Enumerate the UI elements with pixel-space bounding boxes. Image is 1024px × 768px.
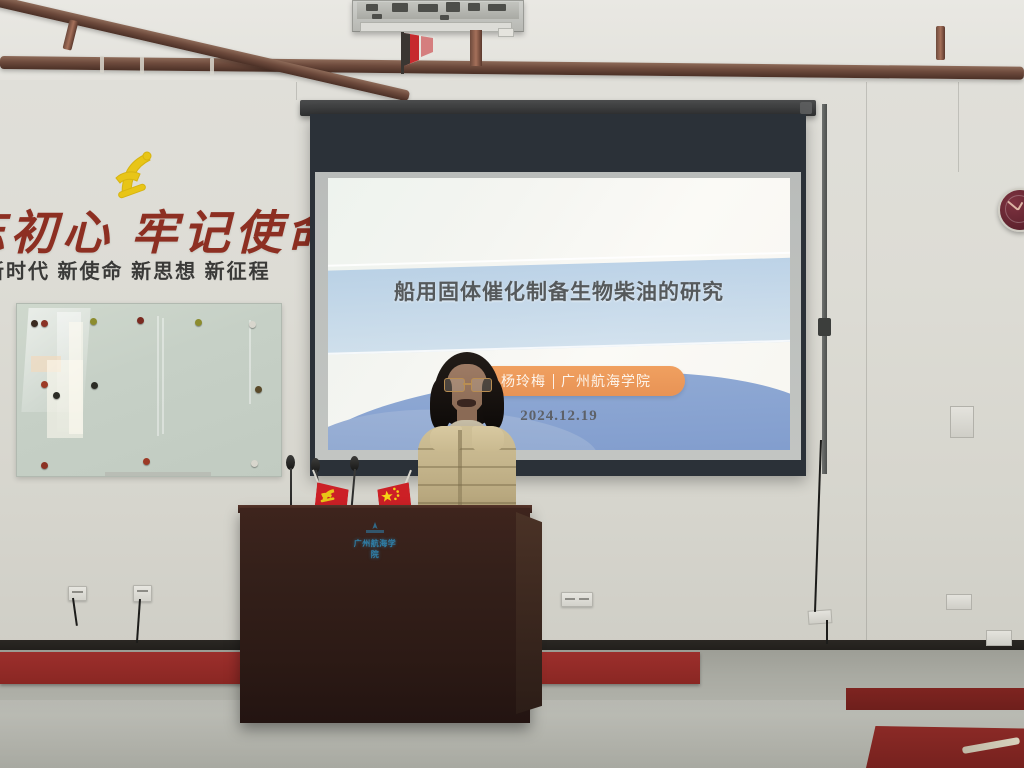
pill-divider xyxy=(553,374,554,389)
presenter-mouth xyxy=(457,399,476,407)
board-pin xyxy=(255,386,262,393)
pipe-clamp xyxy=(100,56,104,73)
board-paper-scrap xyxy=(69,322,83,434)
glasses-icon xyxy=(444,378,490,390)
board-pin xyxy=(41,462,48,469)
slide-date: 2024.12.19 xyxy=(328,408,790,425)
wall-seam xyxy=(296,82,297,100)
banner-sub-text: 新时代 新使命 新思想 新征程 xyxy=(0,255,304,284)
projector-mount-pole xyxy=(470,30,482,66)
board-pin xyxy=(195,319,202,326)
screen-side-rod xyxy=(822,104,827,474)
banner-main-text: 忘初心 牢记使命 xyxy=(0,194,308,263)
board-pin xyxy=(41,381,48,388)
wall-plate xyxy=(950,406,974,438)
podium-logo-text: 广州航海学院 xyxy=(352,538,398,560)
slide-title: 船用固体催化制备生物柴油的研究 xyxy=(328,276,790,306)
board-pin xyxy=(90,318,97,325)
red-carpet-right xyxy=(846,688,1024,710)
podium-side-panel xyxy=(516,512,542,714)
wall-outlet-double[interactable] xyxy=(561,592,593,607)
board-pin xyxy=(137,317,144,324)
jacket-collar-right xyxy=(472,426,504,452)
projector-port xyxy=(418,4,438,12)
projector-port xyxy=(392,3,408,12)
ceiling-flag-icon xyxy=(395,30,443,74)
projector-port xyxy=(440,15,449,20)
jacket-seam xyxy=(418,502,516,504)
wall-outlet-right[interactable] xyxy=(946,594,972,610)
projector-label xyxy=(498,28,514,37)
jacket-seam xyxy=(418,466,516,468)
wall-outlet[interactable] xyxy=(133,585,152,602)
wall-seam xyxy=(866,82,867,642)
glasses-lens-right xyxy=(471,378,492,392)
lecture-hall-photo: 忘初心 牢记使命 新时代 新使命 新思想 新征程 xyxy=(0,0,1024,768)
screen-wall-bracket xyxy=(818,318,831,336)
board-marker-tray xyxy=(105,472,211,476)
pipe-clamp xyxy=(140,57,144,74)
board-pin xyxy=(249,321,256,328)
projector-port xyxy=(366,4,378,11)
wall-seam xyxy=(958,82,959,172)
projected-slide: 船用固体催化制备生物柴油的研究 杨玲梅 广州航海学院 2024.12.19 xyxy=(328,178,790,450)
board-pin xyxy=(143,458,150,465)
outlet-slot xyxy=(565,598,575,600)
projector-port xyxy=(446,2,460,12)
slide-affiliation: 广州航海学院 xyxy=(561,371,651,391)
wall-cable-vertical xyxy=(826,620,828,644)
screen-case-endcap xyxy=(800,102,812,114)
outlet-slot xyxy=(137,590,148,592)
projector-port xyxy=(372,14,382,19)
board-pin xyxy=(41,320,48,327)
board-streak xyxy=(162,318,164,434)
glass-bulletin-board xyxy=(16,303,282,477)
glasses-lens-left xyxy=(444,378,465,392)
wall-slogan-banner: 忘初心 牢记使命 新时代 新使命 新思想 新征程 xyxy=(0,150,300,290)
board-pin xyxy=(53,392,60,399)
board-streak xyxy=(249,320,251,404)
jacket-seam xyxy=(418,484,516,486)
board-streak xyxy=(157,316,159,436)
pipe-drop-leg xyxy=(936,26,945,60)
board-pin xyxy=(91,382,98,389)
board-pin xyxy=(31,320,38,327)
pipe-clamp xyxy=(210,58,214,75)
outlet-slot xyxy=(72,591,83,593)
wall-outlet-right[interactable] xyxy=(986,630,1012,646)
outlet-slot xyxy=(579,598,589,600)
wall-outlet[interactable] xyxy=(68,586,87,601)
projector-port xyxy=(488,4,506,11)
board-pin xyxy=(251,460,258,467)
projector-port xyxy=(468,3,480,11)
small-hanging-flag xyxy=(395,30,443,74)
wall-junction-box xyxy=(808,609,833,625)
glasses-bridge xyxy=(463,383,471,385)
